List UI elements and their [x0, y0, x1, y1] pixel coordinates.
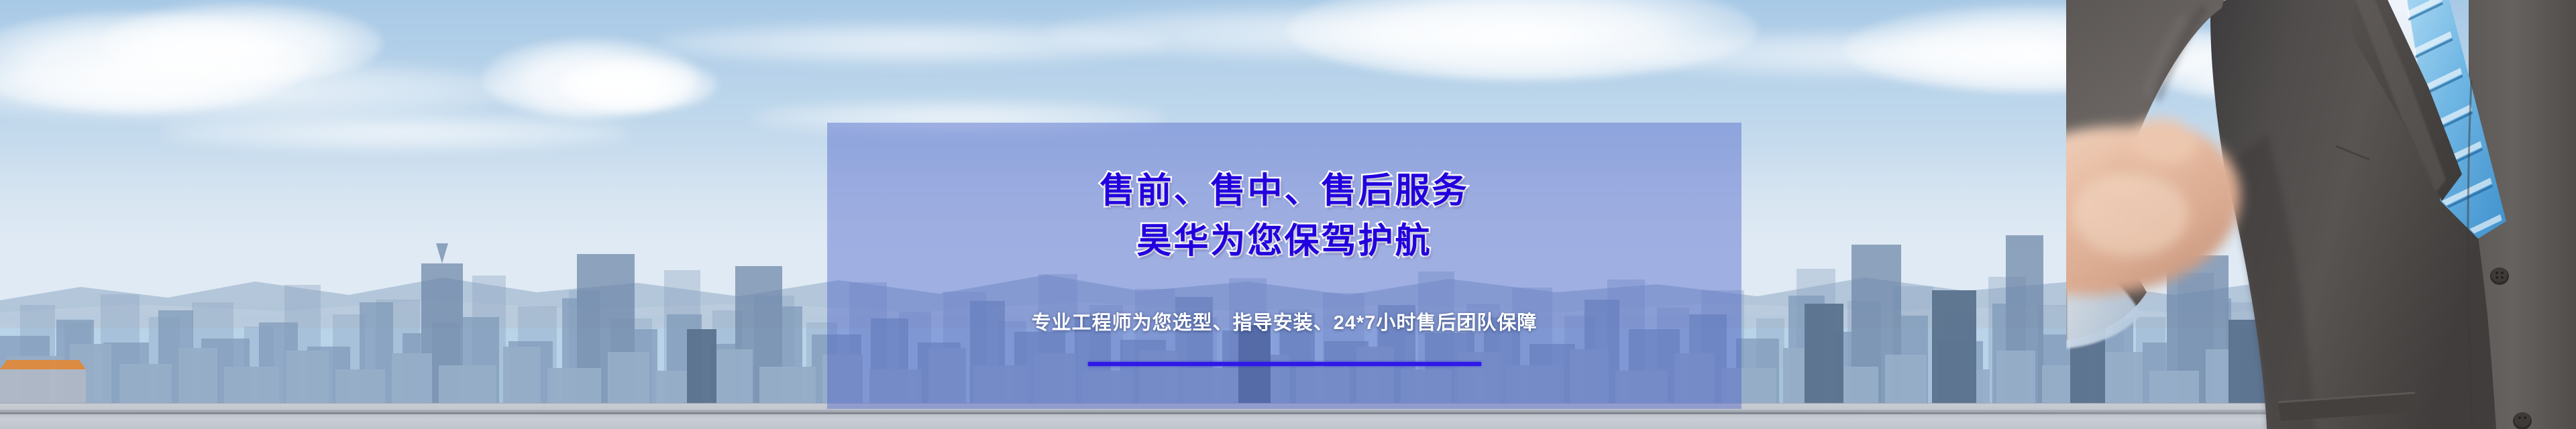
banner-text-block: 售前、售中、售后服务 昊华为您保驾护航 专业工程师为您选型、指导安装、24*7小…	[827, 123, 1741, 409]
accent-underline-bar	[1088, 362, 1481, 366]
headline-line-2: 昊华为您保驾护航	[1136, 221, 1432, 262]
hero-banner: 售前、售中、售后服务 昊华为您保驾护航 专业工程师为您选型、指导安装、24*7小…	[0, 0, 2576, 429]
banner-subtitle: 专业工程师为您选型、指导安装、24*7小时售后团队保障	[1032, 307, 1538, 335]
businessman-handshake-figure	[2066, 0, 2576, 429]
headline-line-1: 售前、售中、售后服务	[1099, 171, 1468, 212]
